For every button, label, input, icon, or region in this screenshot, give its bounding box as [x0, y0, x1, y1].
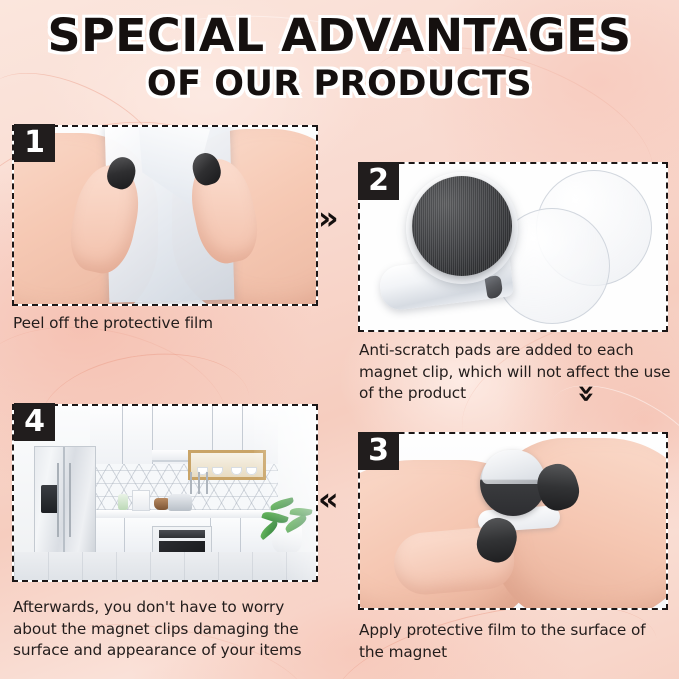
step-4-image-panel [12, 404, 318, 582]
kettle [168, 494, 192, 511]
small-plant [118, 494, 128, 510]
cup [246, 467, 257, 475]
step-4-caption: Afterwards, you don't have to worry abou… [13, 597, 319, 662]
step-4-badge: 4 [14, 403, 55, 441]
step-3-photo [360, 434, 666, 608]
cabinet-seam [124, 518, 125, 554]
step-1-badge: 1 [14, 124, 55, 162]
page-title: SPECIAL ADVANTAGES OF OUR PRODUCTS [0, 0, 679, 102]
step-2-badge: 2 [358, 162, 399, 200]
utensil [198, 472, 200, 494]
tiled-floor [14, 552, 316, 580]
page-title-line-1: SPECIAL ADVANTAGES [0, 13, 679, 58]
step-2-photo [360, 164, 666, 330]
magnet-face [412, 176, 512, 276]
fridge-door-split [63, 447, 65, 553]
cup [231, 467, 242, 475]
page-title-line-2: OF OUR PRODUCTS [0, 67, 679, 102]
countertop [90, 510, 278, 518]
double-chevron-down-icon: » [569, 384, 604, 403]
step-1-image-panel [12, 125, 318, 306]
product-advantages-infographic: SPECIAL ADVANTAGES OF OUR PRODUCTS 1 Pee… [0, 0, 679, 679]
oven-control-panel [159, 530, 205, 538]
palm-leaf [290, 507, 313, 518]
step-2-image-panel [358, 162, 668, 332]
utensil [190, 472, 192, 494]
picture-frame [132, 490, 150, 511]
refrigerator [34, 446, 96, 554]
step-3-caption: Apply protective film to the surface of … [359, 620, 671, 663]
step-3-badge: 3 [358, 432, 399, 470]
double-chevron-right-icon: » [318, 199, 339, 237]
double-chevron-left-icon: « [318, 480, 339, 518]
step-4-photo [14, 406, 316, 580]
step-3-image-panel [358, 432, 668, 610]
fridge-handle [57, 463, 59, 537]
fridge-handle [69, 463, 71, 537]
step-1-photo [14, 127, 316, 304]
step-2-caption: Anti-scratch pads are added to each magn… [359, 340, 671, 405]
cabinet-seam [122, 406, 123, 464]
utensil [206, 472, 208, 494]
step-1-caption: Peel off the protective film [13, 313, 313, 335]
cabinet-seam [240, 518, 241, 554]
